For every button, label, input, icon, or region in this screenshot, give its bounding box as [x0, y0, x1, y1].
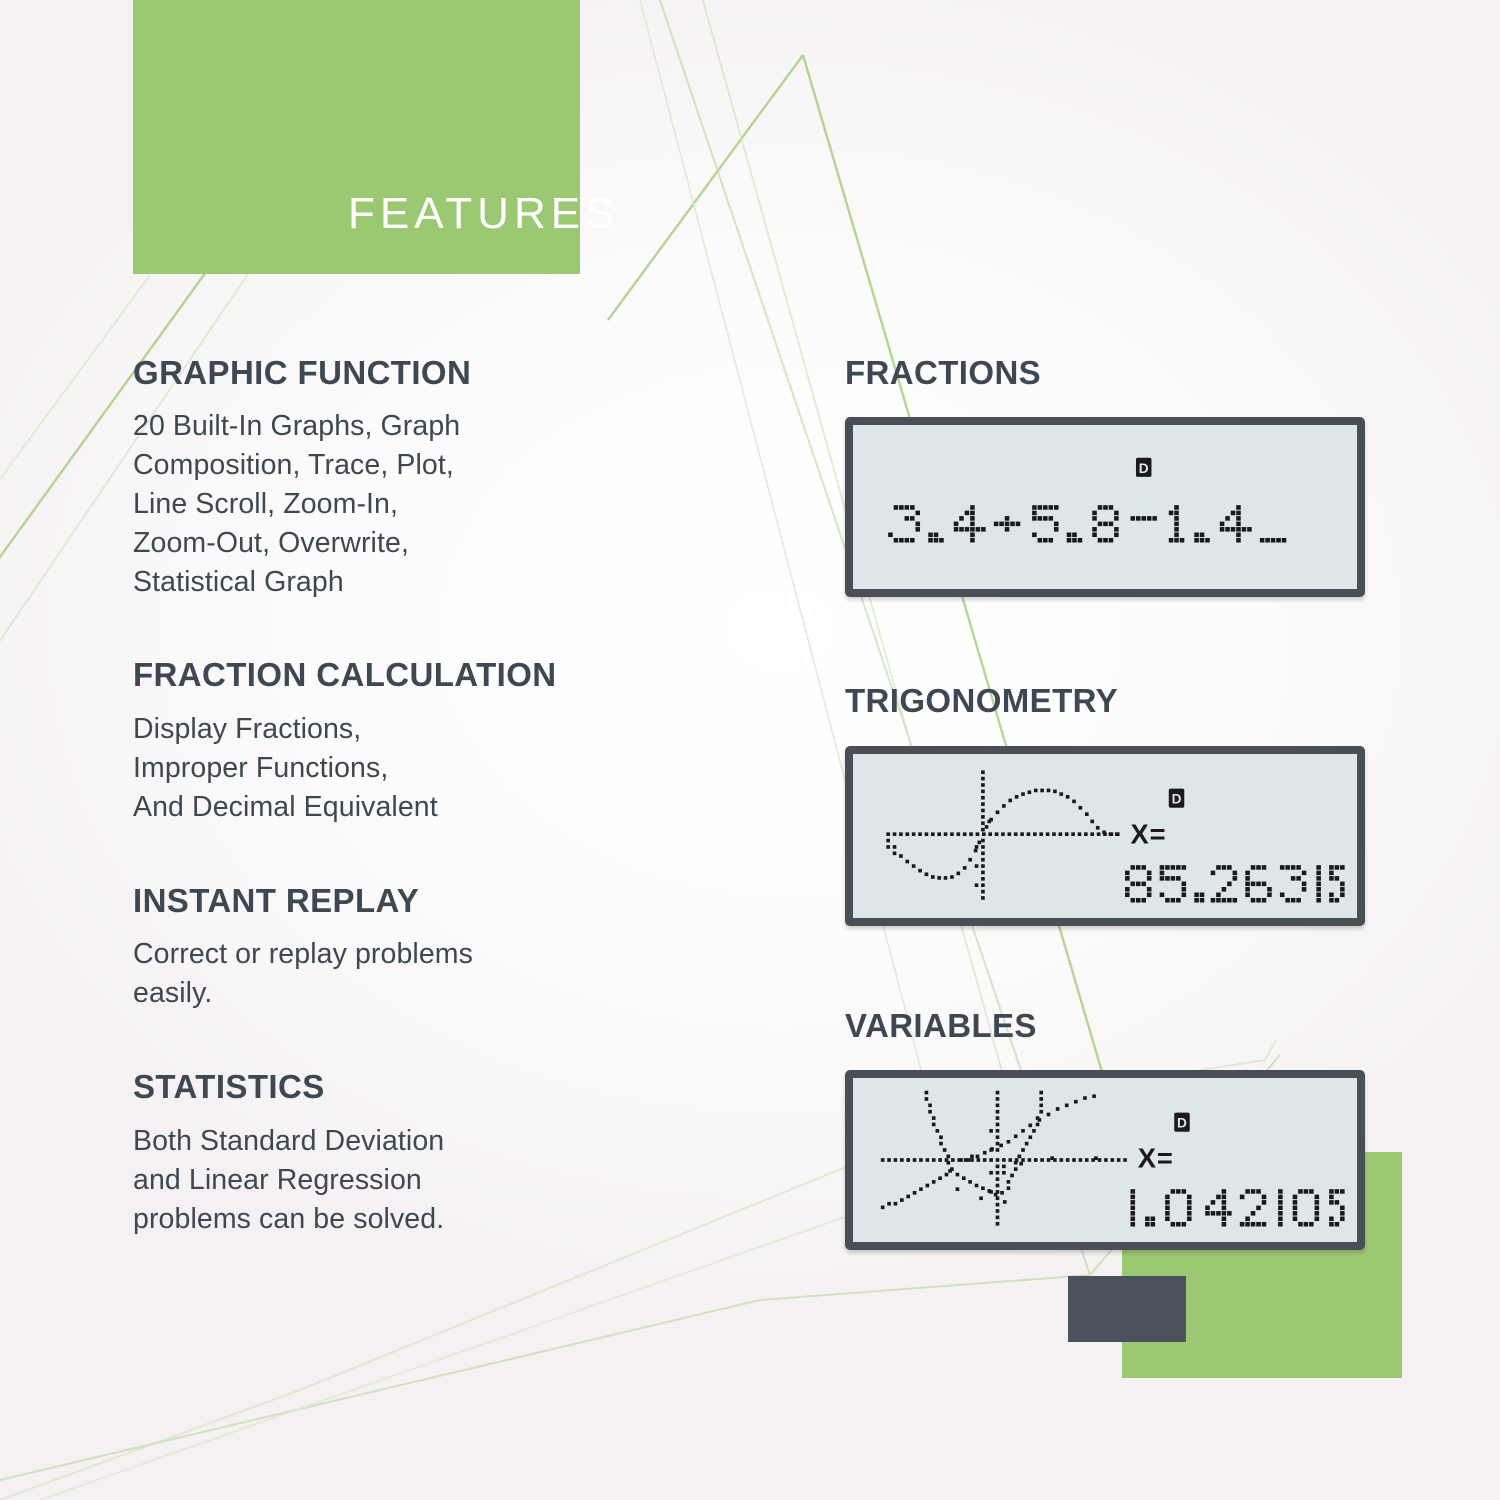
feature-body: Both Standard Deviation and Linear Regre… — [133, 1122, 713, 1239]
display-title-variables: VARIABLES — [845, 1008, 1465, 1044]
lcd-variables-content: D X= — [853, 1078, 1357, 1242]
calculator-tab-shape — [1068, 1276, 1186, 1342]
svg-text:X=: X= — [1138, 1142, 1174, 1173]
svg-text:D: D — [1172, 791, 1182, 806]
feature-title: STATISTICS — [133, 1069, 713, 1105]
right-display-column: FRACTIONS D — [845, 355, 1465, 1250]
lcd-screen-trigonometry: D X= — [845, 746, 1365, 926]
lcd-trigonometry-content: D X= — [853, 754, 1357, 918]
spacer — [845, 597, 1465, 683]
feature-body: Correct or replay problems easily. — [133, 935, 713, 1013]
feature-fraction-calculation: FRACTION CALCULATION Display Fractions, … — [133, 657, 713, 826]
lcd-fractions-content: D — [853, 425, 1357, 589]
feature-title: FRACTION CALCULATION — [133, 657, 713, 693]
feature-statistics: STATISTICS Both Standard Deviation and L… — [133, 1069, 713, 1238]
feature-graphic-function: GRAPHIC FUNCTION 20 Built-In Graphs, Gra… — [133, 355, 713, 602]
features-banner: FEATURES — [133, 0, 580, 274]
svg-text:D: D — [1177, 1116, 1187, 1131]
feature-body: Display Fractions, Improper Functions, A… — [133, 710, 713, 827]
spacer — [133, 827, 713, 883]
spacer — [845, 926, 1465, 1008]
spacer — [133, 1013, 713, 1069]
lcd-screen-variables: D X= — [845, 1070, 1365, 1250]
svg-text:X=: X= — [1131, 818, 1167, 849]
feature-title: GRAPHIC FUNCTION — [133, 355, 713, 391]
spacer — [133, 602, 713, 657]
display-title-trigonometry: TRIGONOMETRY — [845, 683, 1465, 719]
poster-canvas: FEATURES GRAPHIC FUNCTION 20 Built-In Gr… — [0, 0, 1500, 1500]
feature-title: INSTANT REPLAY — [133, 883, 713, 919]
svg-text:D: D — [1139, 461, 1149, 476]
feature-body: 20 Built-In Graphs, Graph Composition, T… — [133, 407, 713, 602]
features-banner-title: FEATURES — [348, 192, 619, 236]
left-feature-column: GRAPHIC FUNCTION 20 Built-In Graphs, Gra… — [133, 355, 713, 1239]
display-title-fractions: FRACTIONS — [845, 355, 1465, 391]
lcd-screen-fractions: D — [845, 417, 1365, 597]
feature-instant-replay: INSTANT REPLAY Correct or replay problem… — [133, 883, 713, 1013]
